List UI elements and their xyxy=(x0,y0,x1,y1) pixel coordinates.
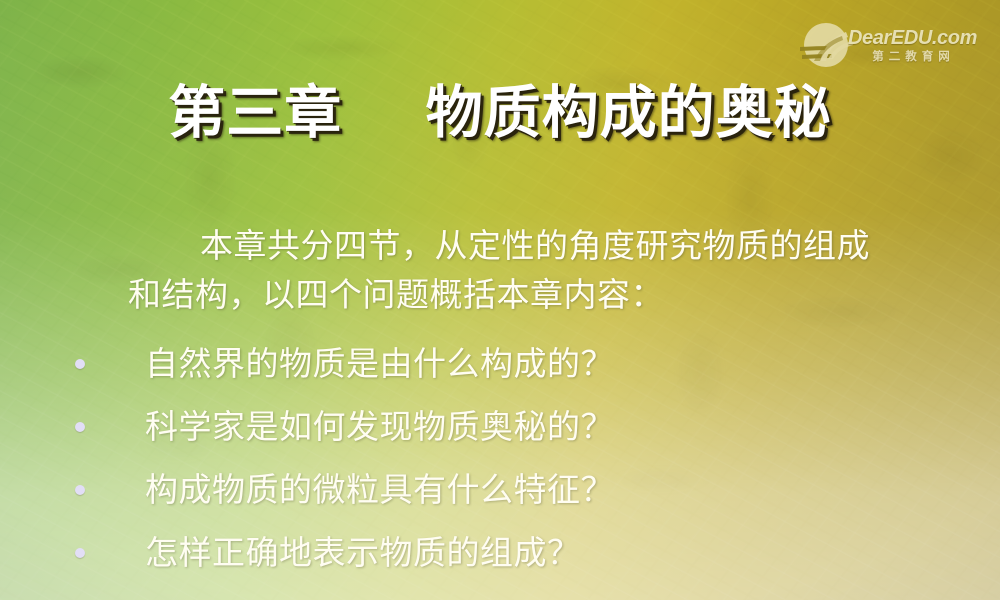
dearedu-logo-text-block: DearEDU.com 第二教育网 xyxy=(848,28,977,63)
dearedu-watermark-logo: DearEDU.com 第二教育网 xyxy=(798,14,990,76)
dearedu-swoosh-logo-icon xyxy=(798,17,854,73)
list-item: 怎样正确地表示物质的组成？ xyxy=(60,521,960,584)
bullet-dot-icon xyxy=(75,548,85,558)
presentation-slide: DearEDU.com 第二教育网 第三章 物质构成的奥秘 本章共分四节，从定性… xyxy=(0,0,1000,600)
dearedu-brand-subtitle: 第二教育网 xyxy=(848,51,977,63)
slide-intro-paragraph: 本章共分四节，从定性的角度研究物质的组成和结构，以四个问题概括本章内容： xyxy=(128,222,898,320)
list-item: 科学家是如何发现物质奥秘的？ xyxy=(60,395,960,458)
bullet-dot-icon xyxy=(75,359,85,369)
list-item: 构成物质的微粒具有什么特征？ xyxy=(60,458,960,521)
bullet-item-label: 构成物质的微粒具有什么特征？ xyxy=(145,473,614,506)
bullet-item-label: 科学家是如何发现物质奥秘的？ xyxy=(145,410,614,443)
bullet-dot-icon xyxy=(75,485,85,495)
slide-title: 第三章 物质构成的奥秘 xyxy=(0,84,1000,144)
dearedu-brand-name: DearEDU.com xyxy=(848,28,977,48)
list-item: 自然界的物质是由什么构成的？ xyxy=(60,332,960,395)
bullet-dot-icon xyxy=(75,422,85,432)
slide-bullet-list: 自然界的物质是由什么构成的？ 科学家是如何发现物质奥秘的？ 构成物质的微粒具有什… xyxy=(60,332,960,584)
bullet-item-label: 怎样正确地表示物质的组成？ xyxy=(145,536,581,569)
bullet-item-label: 自然界的物质是由什么构成的？ xyxy=(145,347,614,380)
